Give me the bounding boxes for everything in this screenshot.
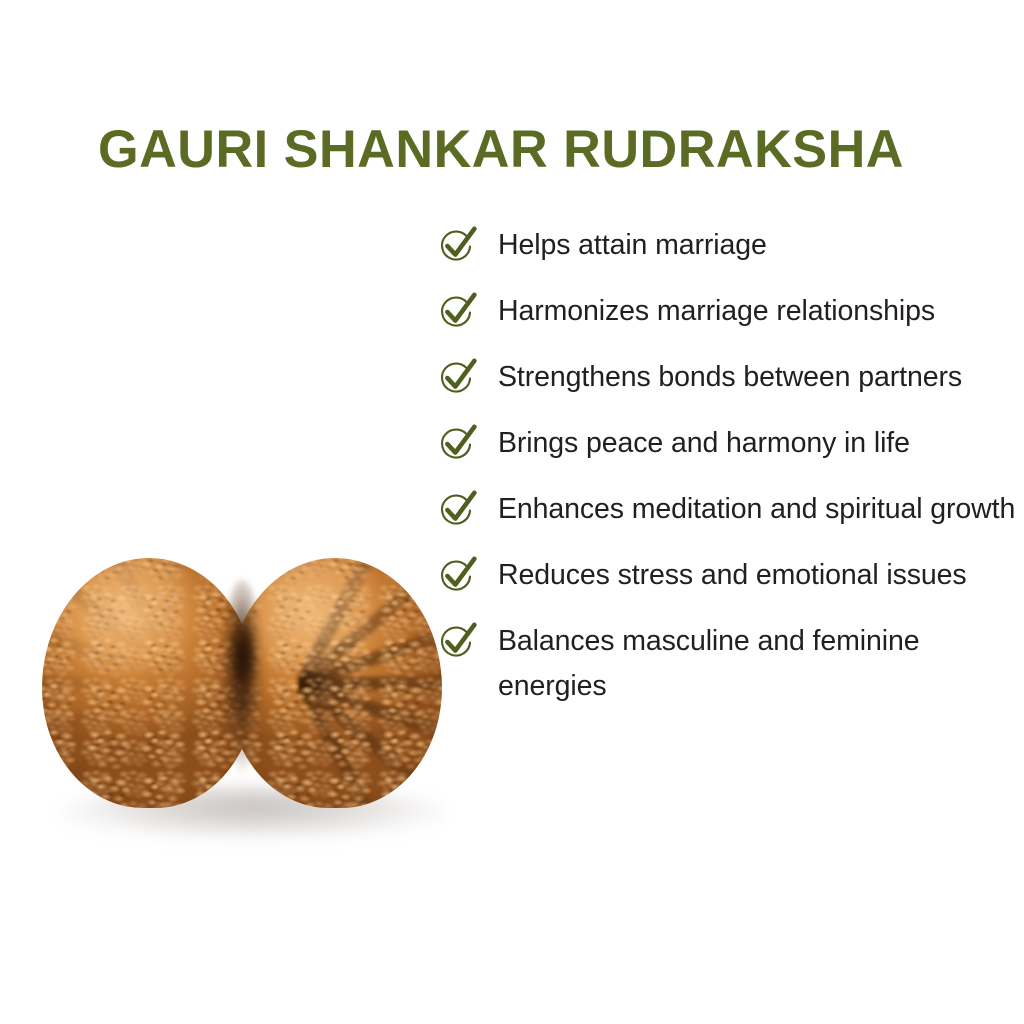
benefit-text: Enhances meditation and spiritual growth	[498, 486, 1017, 532]
benefit-item: Brings peace and harmony in life	[437, 420, 1017, 466]
benefits-list: Helps attain marriageHarmonizes marriage…	[437, 222, 1017, 709]
benefit-text: Brings peace and harmony in life	[498, 420, 1017, 466]
benefit-text: Harmonizes marriage relationships	[498, 288, 1017, 334]
check-circle-icon	[437, 489, 477, 529]
benefit-text: Balances masculine and feminine energies	[498, 618, 1017, 709]
benefit-item: Balances masculine and feminine energies	[437, 618, 1017, 709]
benefit-item: Harmonizes marriage relationships	[437, 288, 1017, 334]
rudraksha-bead-image	[36, 552, 456, 852]
benefit-item: Helps attain marriage	[437, 222, 1017, 268]
benefit-item: Reduces stress and emotional issues	[437, 552, 1017, 598]
product-benefits-card: GAURI SHANKAR RUDRAKSHA Helps attain mar…	[0, 0, 1024, 1024]
check-circle-icon	[437, 225, 477, 265]
benefit-text: Helps attain marriage	[498, 222, 1017, 268]
benefit-item: Enhances meditation and spiritual growth	[437, 486, 1017, 532]
bead-seam-core	[232, 626, 254, 684]
bead-center-seam	[219, 580, 265, 792]
benefit-text: Strengthens bonds between partners	[498, 354, 1017, 400]
benefit-item: Strengthens bonds between partners	[437, 354, 1017, 400]
check-circle-icon	[437, 357, 477, 397]
page-title: GAURI SHANKAR RUDRAKSHA	[98, 119, 904, 180]
check-circle-icon	[437, 291, 477, 331]
benefit-text: Reduces stress and emotional issues	[498, 552, 1017, 598]
check-circle-icon	[437, 423, 477, 463]
